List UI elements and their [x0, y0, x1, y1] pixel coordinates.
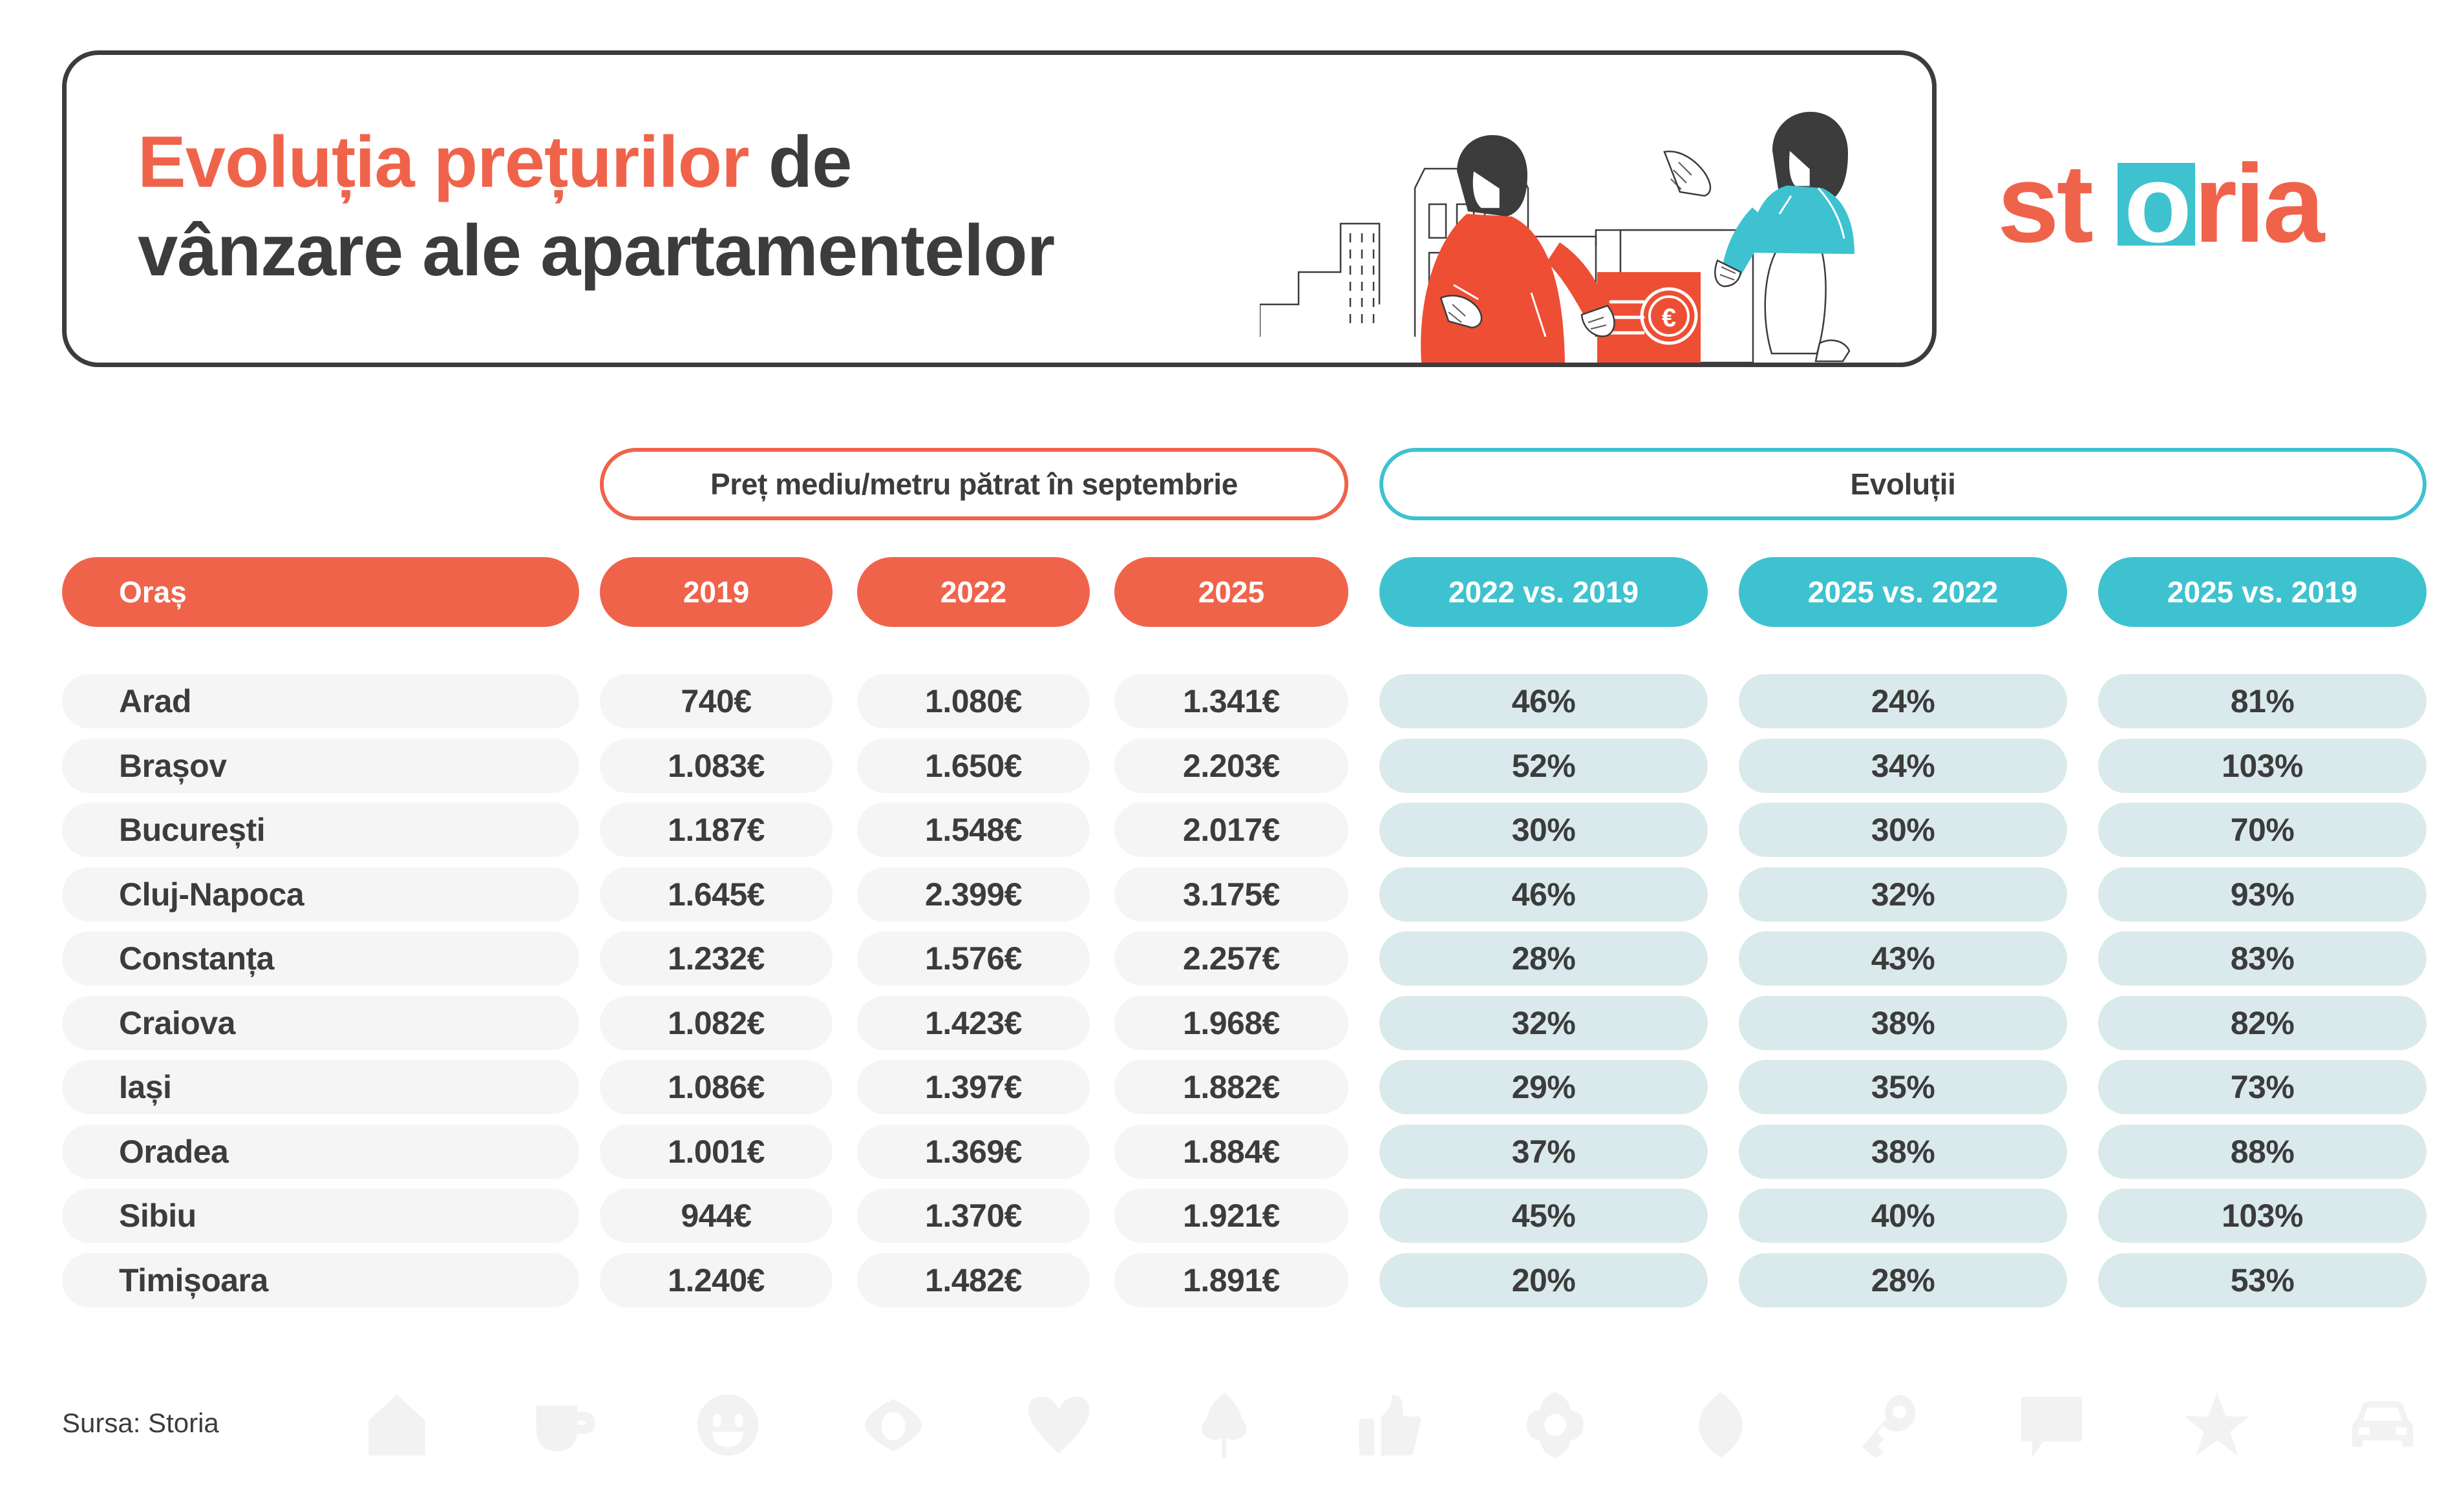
- cell-value: Brașov: [119, 747, 227, 785]
- table-cell-price-2019: 740€: [600, 674, 833, 728]
- header-card: Evoluția prețurilor de vânzare ale apart…: [62, 50, 1937, 367]
- cell-value: 53%: [2231, 1262, 2295, 1299]
- table-cell-change-2025-vs-2022: 30%: [1739, 803, 2067, 857]
- svg-text:ria: ria: [2194, 147, 2326, 257]
- table-cell-change-2025-vs-2019: 70%: [2098, 803, 2427, 857]
- table-cell-price-2019: 1.001€: [600, 1125, 833, 1179]
- cell-value: 2.257€: [1183, 940, 1280, 977]
- cell-value: 28%: [1512, 940, 1576, 977]
- cell-value: 30%: [1871, 811, 1935, 849]
- column-header-2019-label: 2019: [683, 575, 749, 609]
- key-icon: [1851, 1390, 1921, 1460]
- cell-value: 35%: [1871, 1068, 1935, 1106]
- cell-value: 28%: [1871, 1262, 1935, 1299]
- table-cell-city: Oradea: [62, 1125, 579, 1179]
- table-cell-change-2022-vs-2019: 46%: [1379, 674, 1708, 728]
- table-cell-change-2025-vs-2019: 81%: [2098, 674, 2427, 728]
- cell-value: Sibiu: [119, 1197, 196, 1234]
- cell-value: 103%: [2222, 747, 2303, 785]
- table-cell-price-2019: 1.082€: [600, 996, 833, 1050]
- cell-value: 1.882€: [1183, 1068, 1280, 1106]
- cell-value: 38%: [1871, 1133, 1935, 1170]
- star-icon: [2182, 1390, 2252, 1460]
- cell-value: 83%: [2231, 940, 2295, 977]
- column-header-city-label: Oraș: [119, 575, 187, 609]
- column-header-2022-vs-2019: 2022 vs. 2019: [1379, 557, 1708, 627]
- cell-value: Timișoara: [119, 1262, 268, 1299]
- cell-value: 32%: [1512, 1004, 1576, 1042]
- cell-value: 1.341€: [1183, 682, 1280, 720]
- cell-value: 1.080€: [925, 682, 1022, 720]
- table-cell-price-2025: 1.891€: [1114, 1253, 1348, 1307]
- table-cell-price-2019: 944€: [600, 1189, 833, 1243]
- table-cell-change-2025-vs-2022: 24%: [1739, 674, 2067, 728]
- table-cell-price-2019: 1.086€: [600, 1060, 833, 1114]
- table-cell-price-2025: 1.882€: [1114, 1060, 1348, 1114]
- cell-value: 34%: [1871, 747, 1935, 785]
- cell-value: 1.650€: [925, 747, 1022, 785]
- title-rest-text: de: [749, 122, 852, 202]
- table-cell-price-2022: 2.399€: [857, 867, 1090, 922]
- column-header-city: Oraș: [62, 557, 579, 627]
- cell-value: Craiova: [119, 1004, 235, 1042]
- cell-value: 29%: [1512, 1068, 1576, 1106]
- table-cell-city: Iași: [62, 1060, 579, 1114]
- table-cell-city: Cluj-Napoca: [62, 867, 579, 922]
- smiley-icon: [693, 1390, 763, 1460]
- table-cell-change-2025-vs-2022: 32%: [1739, 867, 2067, 922]
- cell-value: 2.017€: [1183, 811, 1280, 849]
- table-cell-change-2022-vs-2019: 32%: [1379, 996, 1708, 1050]
- cell-value: Constanța: [119, 940, 274, 977]
- cell-value: 38%: [1871, 1004, 1935, 1042]
- column-header-2022: 2022: [857, 557, 1090, 627]
- cell-value: 2.203€: [1183, 747, 1280, 785]
- table-cell-price-2025: 2.203€: [1114, 739, 1348, 793]
- table-cell-change-2025-vs-2019: 83%: [2098, 931, 2427, 986]
- cell-value: 1.240€: [668, 1262, 765, 1299]
- table-cell-change-2025-vs-2022: 38%: [1739, 996, 2067, 1050]
- table-cell-price-2019: 1.232€: [600, 931, 833, 986]
- table-cell-city: Constanța: [62, 931, 579, 986]
- cell-value: 88%: [2231, 1133, 2295, 1170]
- table-cell-change-2025-vs-2022: 34%: [1739, 739, 2067, 793]
- page-title: Evoluția prețurilor de vânzare ale apart…: [138, 118, 1366, 295]
- heart-icon: [1024, 1390, 1094, 1460]
- cell-value: 1.369€: [925, 1133, 1022, 1170]
- title-line-2: vânzare ale apartamentelor: [138, 207, 1366, 295]
- cell-value: 2.399€: [925, 876, 1022, 913]
- table-cell-change-2022-vs-2019: 30%: [1379, 803, 1708, 857]
- table-cell-city: București: [62, 803, 579, 857]
- table-cell-change-2025-vs-2019: 73%: [2098, 1060, 2427, 1114]
- table-cell-change-2025-vs-2022: 35%: [1739, 1060, 2067, 1114]
- thumbs-up-icon: [1355, 1390, 1425, 1460]
- cell-value: 1.548€: [925, 811, 1022, 849]
- table-cell-city: Arad: [62, 674, 579, 728]
- cell-value: 20%: [1512, 1262, 1576, 1299]
- cell-value: 30%: [1512, 811, 1576, 849]
- map-pin-icon: [1686, 1390, 1756, 1460]
- table-cell-change-2022-vs-2019: 52%: [1379, 739, 1708, 793]
- source-label: Sursa: Storia: [62, 1408, 219, 1439]
- table-cell-change-2022-vs-2019: 29%: [1379, 1060, 1708, 1114]
- table-cell-price-2022: 1.423€: [857, 996, 1090, 1050]
- table-cell-price-2025: 3.175€: [1114, 867, 1348, 922]
- cell-value: 81%: [2231, 682, 2295, 720]
- cell-value: 1.397€: [925, 1068, 1022, 1106]
- cell-value: 32%: [1871, 876, 1935, 913]
- cell-value: 1.232€: [668, 940, 765, 977]
- table-cell-change-2022-vs-2019: 28%: [1379, 931, 1708, 986]
- group-header-price-label: Preț mediu/metru pătrat în septembrie: [710, 467, 1238, 502]
- table-cell-change-2025-vs-2022: 28%: [1739, 1253, 2067, 1307]
- cell-value: 93%: [2231, 876, 2295, 913]
- cell-value: 944€: [681, 1197, 751, 1234]
- table-cell-price-2022: 1.080€: [857, 674, 1090, 728]
- column-header-2025-label: 2025: [1198, 575, 1264, 609]
- cell-value: 45%: [1512, 1197, 1576, 1234]
- svg-text:st: st: [1997, 147, 2093, 257]
- table-cell-price-2025: 2.017€: [1114, 803, 1348, 857]
- table-cell-price-2019: 1.187€: [600, 803, 833, 857]
- cell-value: 1.082€: [668, 1004, 765, 1042]
- flower-icon: [1520, 1390, 1590, 1460]
- cell-value: 52%: [1512, 747, 1576, 785]
- table-cell-change-2025-vs-2019: 93%: [2098, 867, 2427, 922]
- cell-value: 1.083€: [668, 747, 765, 785]
- table-cell-price-2022: 1.370€: [857, 1189, 1090, 1243]
- cell-value: 1.086€: [668, 1068, 765, 1106]
- table-cell-change-2022-vs-2019: 46%: [1379, 867, 1708, 922]
- infographic-page: Evoluția prețurilor de vânzare ale apart…: [0, 0, 2464, 1502]
- table-cell-price-2019: 1.083€: [600, 739, 833, 793]
- group-header-evolution: Evoluții: [1379, 448, 2427, 520]
- table-cell-change-2022-vs-2019: 45%: [1379, 1189, 1708, 1243]
- cell-value: 1.370€: [925, 1197, 1022, 1234]
- cell-value: București: [119, 811, 265, 849]
- svg-text:o: o: [2124, 147, 2189, 257]
- cell-value: 1.576€: [925, 940, 1022, 977]
- svg-text:€: €: [1662, 304, 1676, 332]
- cell-value: 3.175€: [1183, 876, 1280, 913]
- table-cell-change-2022-vs-2019: 37%: [1379, 1125, 1708, 1179]
- car-icon: [2348, 1390, 2417, 1460]
- column-header-2022-vs-2019-label: 2022 vs. 2019: [1449, 575, 1639, 609]
- column-header-2019: 2019: [600, 557, 833, 627]
- cell-value: 46%: [1512, 682, 1576, 720]
- cell-value: 1.001€: [668, 1133, 765, 1170]
- cup-icon: [527, 1390, 597, 1460]
- table-cell-price-2019: 1.240€: [600, 1253, 833, 1307]
- eye-icon: [858, 1390, 928, 1460]
- speech-bubble-icon: [2017, 1390, 2087, 1460]
- table-cell-price-2025: 1.921€: [1114, 1189, 1348, 1243]
- table-cell-city: Timișoara: [62, 1253, 579, 1307]
- group-header-evolution-label: Evoluții: [1851, 467, 1956, 502]
- table-cell-change-2025-vs-2022: 40%: [1739, 1189, 2067, 1243]
- header-illustration: €: [1260, 59, 1913, 363]
- cell-value: 1.891€: [1183, 1262, 1280, 1299]
- cell-value: Oradea: [119, 1133, 228, 1170]
- table-cell-price-2025: 2.257€: [1114, 931, 1348, 986]
- table-cell-price-2019: 1.645€: [600, 867, 833, 922]
- table-cell-change-2025-vs-2022: 38%: [1739, 1125, 2067, 1179]
- title-accent-text: Evoluția prețurilor: [138, 122, 749, 202]
- footer-icon-strip: [362, 1383, 2417, 1467]
- cell-value: 1.884€: [1183, 1133, 1280, 1170]
- cell-value: 103%: [2222, 1197, 2303, 1234]
- table-cell-change-2025-vs-2019: 82%: [2098, 996, 2427, 1050]
- title-line-1: Evoluția prețurilor de: [138, 118, 1366, 207]
- table-cell-city: Craiova: [62, 996, 579, 1050]
- table-cell-price-2022: 1.369€: [857, 1125, 1090, 1179]
- cell-value: Iași: [119, 1068, 171, 1106]
- cell-value: 82%: [2231, 1004, 2295, 1042]
- column-header-2025-vs-2022-label: 2025 vs. 2022: [1808, 575, 1998, 609]
- cell-value: 1.482€: [925, 1262, 1022, 1299]
- table-cell-change-2025-vs-2019: 103%: [2098, 1189, 2427, 1243]
- group-header-price: Preț mediu/metru pătrat în septembrie: [600, 448, 1348, 520]
- table-cell-price-2025: 1.341€: [1114, 674, 1348, 728]
- cell-value: 1.968€: [1183, 1004, 1280, 1042]
- table-cell-change-2025-vs-2022: 43%: [1739, 931, 2067, 986]
- cell-value: Arad: [119, 682, 191, 720]
- table-cell-price-2022: 1.650€: [857, 739, 1090, 793]
- column-header-2025-vs-2019: 2025 vs. 2019: [2098, 557, 2427, 627]
- cell-value: 40%: [1871, 1197, 1935, 1234]
- column-header-2025-vs-2022: 2025 vs. 2022: [1739, 557, 2067, 627]
- table-cell-change-2022-vs-2019: 20%: [1379, 1253, 1708, 1307]
- column-header-2022-label: 2022: [940, 575, 1006, 609]
- table-cell-city: Sibiu: [62, 1189, 579, 1243]
- table-cell-price-2022: 1.397€: [857, 1060, 1090, 1114]
- column-header-2025: 2025: [1114, 557, 1348, 627]
- house-icon: [362, 1390, 432, 1460]
- tree-icon: [1189, 1390, 1259, 1460]
- table-cell-change-2025-vs-2019: 53%: [2098, 1253, 2427, 1307]
- cell-value: 46%: [1512, 876, 1576, 913]
- table-cell-price-2025: 1.968€: [1114, 996, 1348, 1050]
- cell-value: 43%: [1871, 940, 1935, 977]
- cell-value: 1.187€: [668, 811, 765, 849]
- cell-value: Cluj-Napoca: [119, 876, 304, 913]
- table-cell-change-2025-vs-2019: 88%: [2098, 1125, 2427, 1179]
- table-cell-price-2022: 1.548€: [857, 803, 1090, 857]
- cell-value: 1.645€: [668, 876, 765, 913]
- storia-logo: st o ria: [1997, 147, 2398, 257]
- cell-value: 1.921€: [1183, 1197, 1280, 1234]
- cell-value: 740€: [681, 682, 751, 720]
- cell-value: 1.423€: [925, 1004, 1022, 1042]
- table-cell-change-2025-vs-2019: 103%: [2098, 739, 2427, 793]
- table-cell-city: Brașov: [62, 739, 579, 793]
- cell-value: 73%: [2231, 1068, 2295, 1106]
- table-cell-price-2025: 1.884€: [1114, 1125, 1348, 1179]
- column-header-2025-vs-2019-label: 2025 vs. 2019: [2167, 575, 2357, 609]
- table-cell-price-2022: 1.576€: [857, 931, 1090, 986]
- cell-value: 70%: [2231, 811, 2295, 849]
- cell-value: 24%: [1871, 682, 1935, 720]
- cell-value: 37%: [1512, 1133, 1576, 1170]
- table-cell-price-2022: 1.482€: [857, 1253, 1090, 1307]
